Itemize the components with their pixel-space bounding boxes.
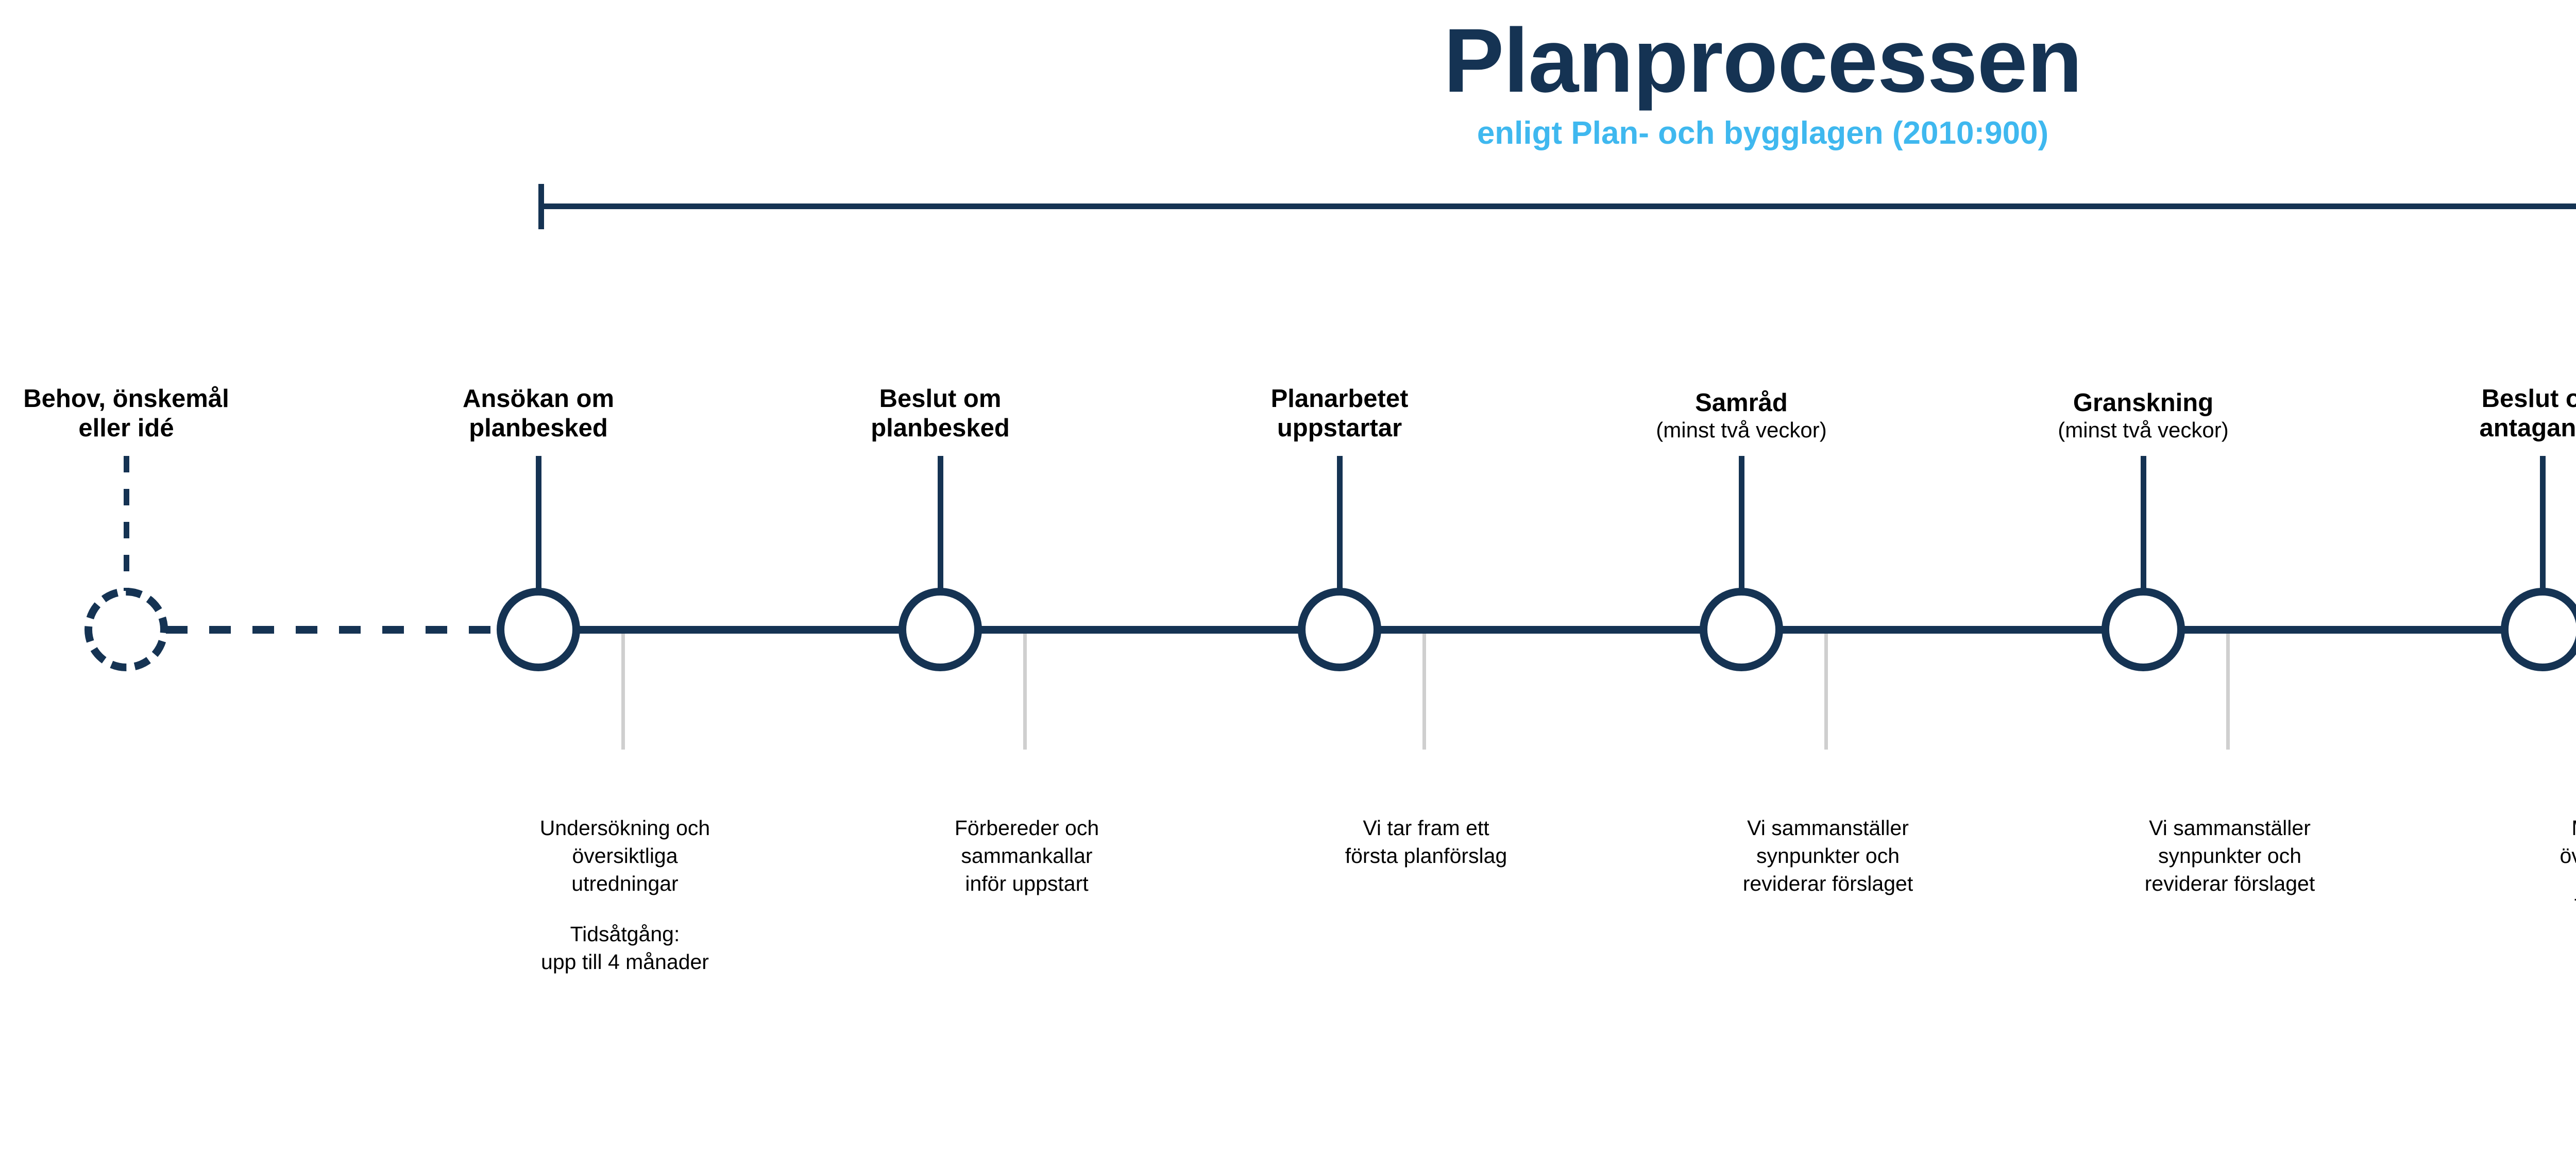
node-stem-ansokan — [536, 456, 541, 591]
node-stem-samrad — [1739, 456, 1744, 591]
node-label-behov: Behov, önskemål eller idé — [0, 384, 322, 443]
step-description-planarbetet: Vi tar fram ett första planförslag — [1261, 814, 1591, 870]
axis-tick-planarbetet — [1023, 634, 1027, 750]
bracket-bar — [538, 203, 2576, 209]
axis-segment-samrad-to-granskning — [1781, 626, 2104, 634]
timeline-node-behov[interactable] — [84, 588, 168, 671]
step-description-samrad: Vi sammanställer synpunkter och revidera… — [1663, 814, 1993, 897]
node-label-main-beslut-antagande: Beslut om antagande — [2347, 384, 2576, 443]
axis-segment-behov-to-ansokan — [166, 626, 499, 634]
node-label-main-samrad: Samråd — [1546, 388, 1937, 418]
node-label-main-behov: Behov, önskemål eller idé — [0, 384, 322, 443]
step-description-granskning: Vi sammanställer synpunkter och revidera… — [2065, 814, 2395, 897]
axis-tick-beslut-antagande — [2226, 634, 2230, 750]
node-stem-beslut-antagande — [2540, 456, 2546, 591]
node-stem-planarbetet — [1337, 456, 1343, 591]
timeline-node-granskning[interactable] — [2102, 588, 2185, 671]
step-description-text-samrad: Vi sammanställer synpunkter och revidera… — [1743, 816, 1913, 895]
step-duration-beslut-antagande: Tidsåtgång: 3 veckor — [2464, 892, 2576, 948]
timeline-node-ansokan[interactable] — [497, 588, 580, 671]
axis-segment-beslut-planbesked-to-planarbetet — [980, 626, 1300, 634]
timeline-node-beslut-planbesked[interactable] — [899, 588, 982, 671]
axis-segment-granskning-to-beslut-antagande — [2183, 626, 2503, 634]
node-label-granskning: Granskning(minst två veckor) — [1947, 388, 2339, 443]
node-stem-beslut-planbesked — [938, 456, 943, 591]
node-label-main-ansokan: Ansökan om planbesked — [343, 384, 734, 443]
node-stem-behov — [124, 456, 129, 591]
title-block: Planprocessen enligt Plan- och bygglagen… — [0, 15, 2576, 149]
timeline-node-planarbetet[interactable] — [1298, 588, 1381, 671]
node-label-beslut-planbesked: Beslut om planbesked — [744, 384, 1136, 443]
step-description-text-beslut-planbesked: Förbereder och sammankallar inför uppsta… — [955, 816, 1099, 895]
node-label-main-planarbetet: Planarbetet uppstartar — [1144, 384, 1535, 443]
node-stem-granskning — [2141, 456, 2146, 591]
node-label-sub-granskning: (minst två veckor) — [1947, 418, 2339, 443]
timeline-node-beslut-antagande[interactable] — [2501, 588, 2576, 671]
page-title: Planprocessen — [0, 15, 2576, 106]
node-label-samrad: Samråd(minst två veckor) — [1546, 388, 1937, 443]
axis-segment-ansokan-to-beslut-planbesked — [578, 626, 901, 634]
axis-tick-granskning — [1824, 634, 1828, 750]
step-description-text-beslut-antagande: Möjlighet för överklaganden — [2560, 816, 2576, 868]
node-label-main-beslut-planbesked: Beslut om planbesked — [744, 384, 1136, 443]
axis-segment-planarbetet-to-samrad — [1379, 626, 1702, 634]
axis-tick-samrad — [1422, 634, 1426, 750]
step-description-text-granskning: Vi sammanställer synpunkter och revidera… — [2145, 816, 2315, 895]
node-label-ansokan: Ansökan om planbesked — [343, 384, 734, 443]
page-subtitle: enligt Plan- och bygglagen (2010:900) — [0, 117, 2576, 149]
step-duration-ansokan: Tidsåtgång: upp till 4 månader — [460, 920, 790, 976]
diagram-canvas: Planprocessen enligt Plan- och bygglagen… — [0, 0, 2576, 1155]
node-label-beslut-antagande: Beslut om antagande — [2347, 384, 2576, 443]
step-description-ansokan: Undersökning och översiktliga utredninga… — [460, 814, 790, 976]
node-label-main-granskning: Granskning — [1947, 388, 2339, 418]
step-description-beslut-planbesked: Förbereder och sammankallar inför uppsta… — [862, 814, 1192, 897]
node-label-sub-samrad: (minst två veckor) — [1546, 418, 1937, 443]
bracket-cap-left — [538, 184, 544, 229]
axis-tick-beslut-planbesked — [621, 634, 625, 750]
step-description-text-ansokan: Undersökning och översiktliga utredninga… — [540, 816, 710, 895]
step-description-text-planarbetet: Vi tar fram ett första planförslag — [1345, 816, 1507, 868]
timeline-node-samrad[interactable] — [1700, 588, 1783, 671]
step-description-beslut-antagande: Möjlighet för överklagandenTidsåtgång: 3… — [2464, 814, 2576, 948]
node-label-planarbetet: Planarbetet uppstartar — [1144, 384, 1535, 443]
process-span-bracket — [538, 203, 2576, 205]
